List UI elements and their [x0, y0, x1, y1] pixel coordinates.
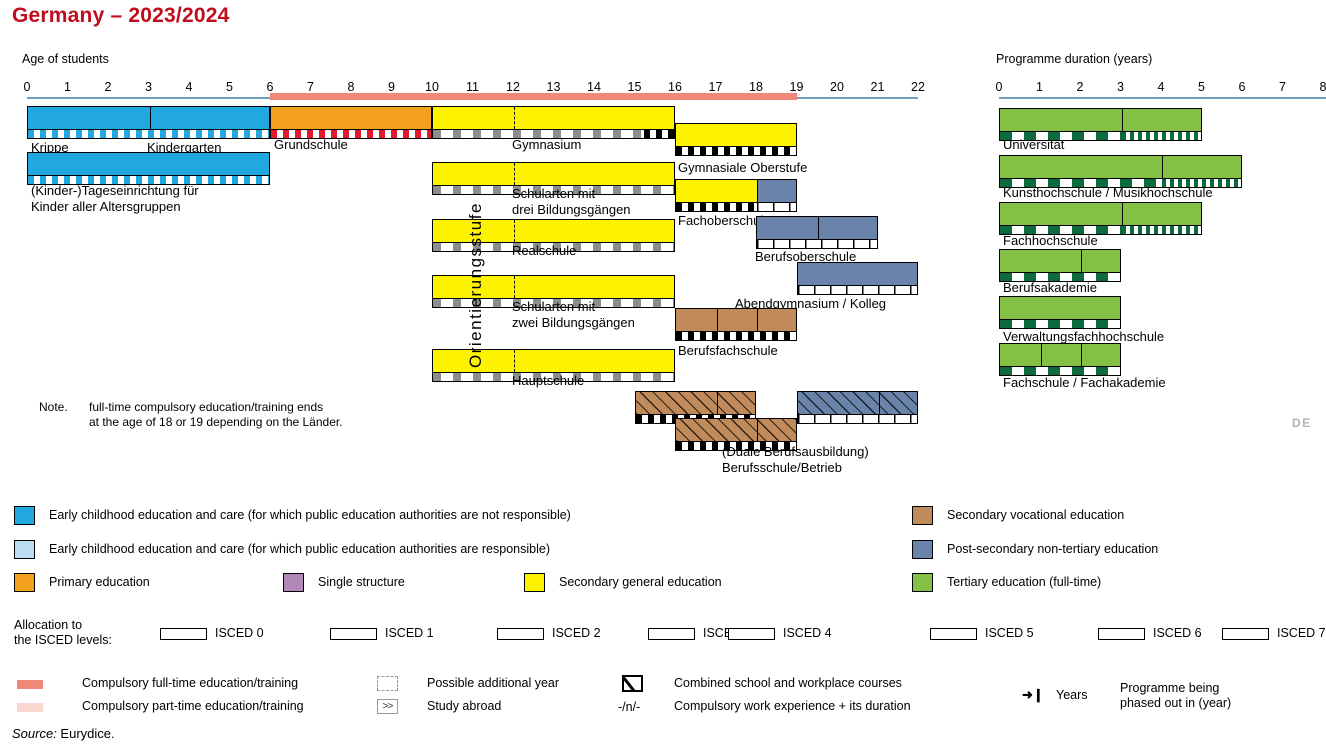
compulsory-part-time-label: Compulsory part-time education/training — [82, 699, 304, 713]
isced-segment — [798, 286, 918, 294]
isced-strip-i0 — [160, 628, 207, 640]
programme-caption: Realschule — [512, 243, 576, 259]
legend-swatch-single-structure — [283, 573, 304, 592]
programme-bar — [27, 152, 270, 185]
isced-strip — [798, 285, 918, 294]
programme-caption: Universität — [1003, 137, 1064, 153]
note-label: Note. — [39, 400, 68, 414]
isced-strip — [798, 414, 918, 423]
programme-bar-fill — [28, 153, 269, 175]
programme-bar-fill — [1000, 344, 1120, 366]
programme-caption: Gymnasium — [512, 137, 581, 153]
programme-caption: Gymnasiale Oberstufe — [678, 160, 807, 176]
programme-caption: Schularten mit zwei Bildungsgängen — [512, 299, 635, 331]
programme-bar — [756, 216, 878, 249]
work-experience-swatch: -/n/- — [618, 700, 640, 714]
programme-bar-fill — [1000, 250, 1120, 272]
programme-bar — [797, 391, 919, 424]
country-code-mark: DE — [1292, 416, 1312, 430]
isced-strip-i5 — [930, 628, 977, 640]
bar-dashed-divider — [514, 276, 515, 298]
programme-bar — [675, 123, 797, 156]
source-value: Eurydice. — [57, 726, 115, 741]
bar-dashed-divider — [514, 350, 515, 372]
legend-swatch-secondary-vocational — [912, 506, 933, 525]
programme-bar-fill — [798, 392, 918, 414]
programme-bar — [999, 296, 1121, 329]
programme-caption: Hauptschule — [512, 373, 584, 389]
programme-bar-fill — [1000, 297, 1120, 319]
isced-label-i7: ISCED 7 — [1277, 626, 1326, 640]
phased-out-label: Programme being phased out in (year) — [1120, 681, 1231, 711]
isced-label-i2: ISCED 2 — [552, 626, 601, 640]
programme-bar-fill — [676, 419, 796, 441]
legend-label-secondary-general: Secondary general education — [559, 575, 722, 589]
isced-segment — [676, 147, 796, 155]
isced-label-i6: ISCED 6 — [1153, 626, 1202, 640]
programme-caption: (Duale Berufsausbildung) Berufsschule/Be… — [722, 444, 869, 476]
isced-segment — [1122, 132, 1201, 140]
isced-segment — [1000, 367, 1120, 375]
programme-bar-fill — [676, 180, 796, 202]
bar-divider — [717, 392, 718, 414]
programme-caption: (Kinder-)Tageseinrichtung für Kinder all… — [31, 183, 199, 215]
note-text: full-time compulsory education/training … — [89, 400, 343, 430]
programme-caption: Berufsakademie — [1003, 280, 1097, 296]
isced-segment — [644, 130, 674, 138]
legend-label-ecec-not-responsible: Early childhood education and care (for … — [49, 508, 571, 522]
isced-segment — [28, 130, 269, 138]
bar-divider — [818, 217, 819, 239]
legend-label-tertiary: Tertiary education (full-time) — [947, 575, 1101, 589]
years-arrow-icon: ➜❙ — [1022, 687, 1044, 703]
programme-bar — [675, 308, 797, 341]
legend-swatch-secondary-general — [524, 573, 545, 592]
isced-legend-row: ISCED 0ISCED 1ISCED 2ISCED 3ISCED 4ISCED… — [0, 626, 1326, 644]
isced-label-i1: ISCED 1 — [385, 626, 434, 640]
legend-swatch-ecec-not-responsible — [14, 506, 35, 525]
programme-bar-fill — [798, 263, 918, 285]
isced-strip — [28, 129, 269, 138]
isced-segment — [798, 415, 918, 423]
isced-strip — [676, 202, 796, 211]
isced-segment — [757, 203, 796, 211]
bar-divider — [879, 392, 880, 414]
isced-strip — [676, 331, 796, 340]
isced-strip-i4 — [728, 628, 775, 640]
years-label: Years — [1056, 688, 1088, 702]
isced-segment — [676, 332, 796, 340]
isced-strip-i7 — [1222, 628, 1269, 640]
programme-bar — [999, 202, 1202, 235]
source-word: Source: — [12, 726, 57, 741]
programme-bar-segment — [757, 180, 796, 202]
bar-divider — [1081, 344, 1082, 366]
programme-caption: Grundschule — [274, 137, 348, 153]
isced-label-i4: ISCED 4 — [783, 626, 832, 640]
combined-courses-label: Combined school and workplace courses — [674, 676, 902, 690]
additional-year-swatch — [377, 676, 398, 691]
legend-label-primary: Primary education — [49, 575, 150, 589]
isced-strip-i6 — [1098, 628, 1145, 640]
compulsory-full-time-swatch — [17, 680, 43, 689]
source-note: Source: Eurydice. — [12, 726, 115, 741]
bar-divider — [1081, 250, 1082, 272]
isced-segment — [1122, 226, 1201, 234]
isced-strip-i2 — [497, 628, 544, 640]
compulsory-full-time-label: Compulsory full-time education/training — [82, 676, 298, 690]
orientierungsstufe-label: Orientierungsstufe — [466, 128, 486, 368]
legend-swatch-post-secondary — [912, 540, 933, 559]
isced-segment — [676, 203, 757, 211]
programme-bar — [675, 179, 797, 212]
programme-bar-fill — [757, 217, 877, 239]
legend-label-ecec-responsible: Early childhood education and care (for … — [49, 542, 550, 556]
isced-segment — [757, 240, 877, 248]
bar-divider — [757, 419, 758, 441]
programme-caption: Schularten mit drei Bildungsgängen — [512, 186, 631, 218]
programme-caption: Berufsfachschule — [678, 343, 778, 359]
legend-swatch-tertiary — [912, 573, 933, 592]
programme-bar-fill — [636, 392, 756, 414]
bar-divider — [757, 309, 758, 331]
programme-bar — [999, 343, 1121, 376]
programme-caption: Fachschule / Fachakademie — [1003, 375, 1166, 391]
programme-bar-fill — [676, 124, 796, 146]
bar-divider — [1162, 156, 1163, 178]
programme-bar — [999, 155, 1242, 188]
isced-strip — [1000, 319, 1120, 328]
programme-bar — [797, 262, 919, 295]
compulsory-part-time-swatch — [17, 703, 43, 712]
programme-caption: Fachhochschule — [1003, 233, 1098, 249]
programme-caption: Kunsthochschule / Musikhochschule — [1003, 185, 1213, 201]
isced-segment — [1000, 320, 1120, 328]
bar-dashed-divider — [514, 163, 515, 185]
bar-dashed-divider — [514, 220, 515, 242]
legend-swatch-primary — [14, 573, 35, 592]
programme-bar-fill — [1000, 156, 1241, 178]
legend-categories-right: Secondary vocational educationPost-secon… — [0, 0, 1326, 120]
isced-strip — [1000, 366, 1120, 375]
isced-strip-i3 — [648, 628, 695, 640]
programme-bar-fill — [676, 309, 796, 331]
programme-bar-fill — [1000, 203, 1201, 225]
legend-label-single-structure: Single structure — [318, 575, 405, 589]
work-experience-label: Compulsory work experience + its duratio… — [674, 699, 911, 713]
bar-divider — [1122, 203, 1123, 225]
legend-swatch-ecec-responsible — [14, 540, 35, 559]
study-abroad-swatch: >> — [377, 699, 398, 714]
isced-strip — [676, 146, 796, 155]
bar-divider — [1041, 344, 1042, 366]
isced-strip — [757, 239, 877, 248]
isced-strip-i1 — [330, 628, 377, 640]
programme-bar — [999, 249, 1121, 282]
legend-label-post-secondary: Post-secondary non-tertiary education — [947, 542, 1158, 556]
bar-divider — [717, 309, 718, 331]
isced-label-i5: ISCED 5 — [985, 626, 1034, 640]
legend-label-secondary-vocational: Secondary vocational education — [947, 508, 1124, 522]
study-abroad-label: Study abroad — [427, 699, 501, 713]
combined-courses-swatch — [622, 675, 643, 692]
additional-year-label: Possible additional year — [427, 676, 559, 690]
isced-label-i0: ISCED 0 — [215, 626, 264, 640]
